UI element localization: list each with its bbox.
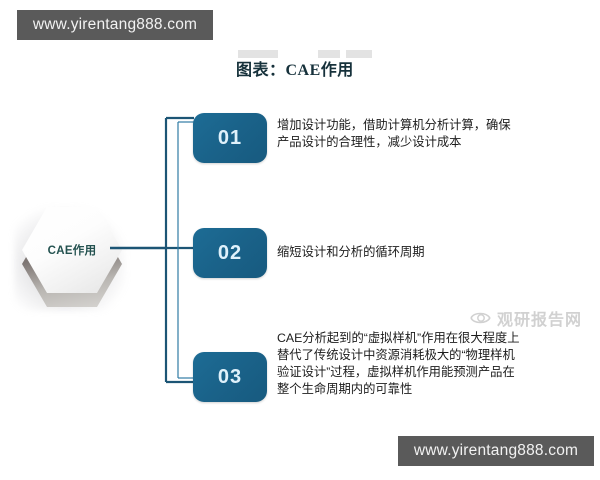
item-description: CAE分析起到的“虚拟样机”作用在很大程度上替代了传统设计中资源消耗极大的“物理… xyxy=(277,330,527,398)
site-watermark: 观研报告网 xyxy=(470,306,582,330)
item-number-badge[interactable]: 02 xyxy=(193,228,267,278)
item-number-label: 02 xyxy=(218,242,242,265)
infographic-canvas: www.yirentang888.com 图表：CAE作用 CAE作用 01 增… xyxy=(0,0,600,480)
watermark-bar-bottom: www.yirentang888.com xyxy=(398,436,594,466)
watermark-url-bottom: www.yirentang888.com xyxy=(414,442,578,460)
item-number-badge[interactable]: 01 xyxy=(193,113,267,163)
hexagon-label: CAE作用 xyxy=(22,207,122,293)
site-watermark-text: 观研报告网 xyxy=(497,306,582,330)
item-number-label: 03 xyxy=(218,366,242,389)
watermark-bar-top: www.yirentang888.com xyxy=(17,10,213,40)
item-number-badge[interactable]: 03 xyxy=(193,352,267,402)
chart-title: 图表：CAE作用 xyxy=(236,56,354,80)
item-number-label: 01 xyxy=(218,127,242,150)
eye-swirl-logo-icon xyxy=(470,310,492,326)
item-description: 增加设计功能，借助计算机分析计算，确保产品设计的合理性，减少设计成本 xyxy=(277,117,517,151)
item-description: 缩短设计和分析的循环周期 xyxy=(277,244,517,261)
hexagon-node: CAE作用 xyxy=(12,193,132,323)
watermark-url-top: www.yirentang888.com xyxy=(33,16,197,34)
